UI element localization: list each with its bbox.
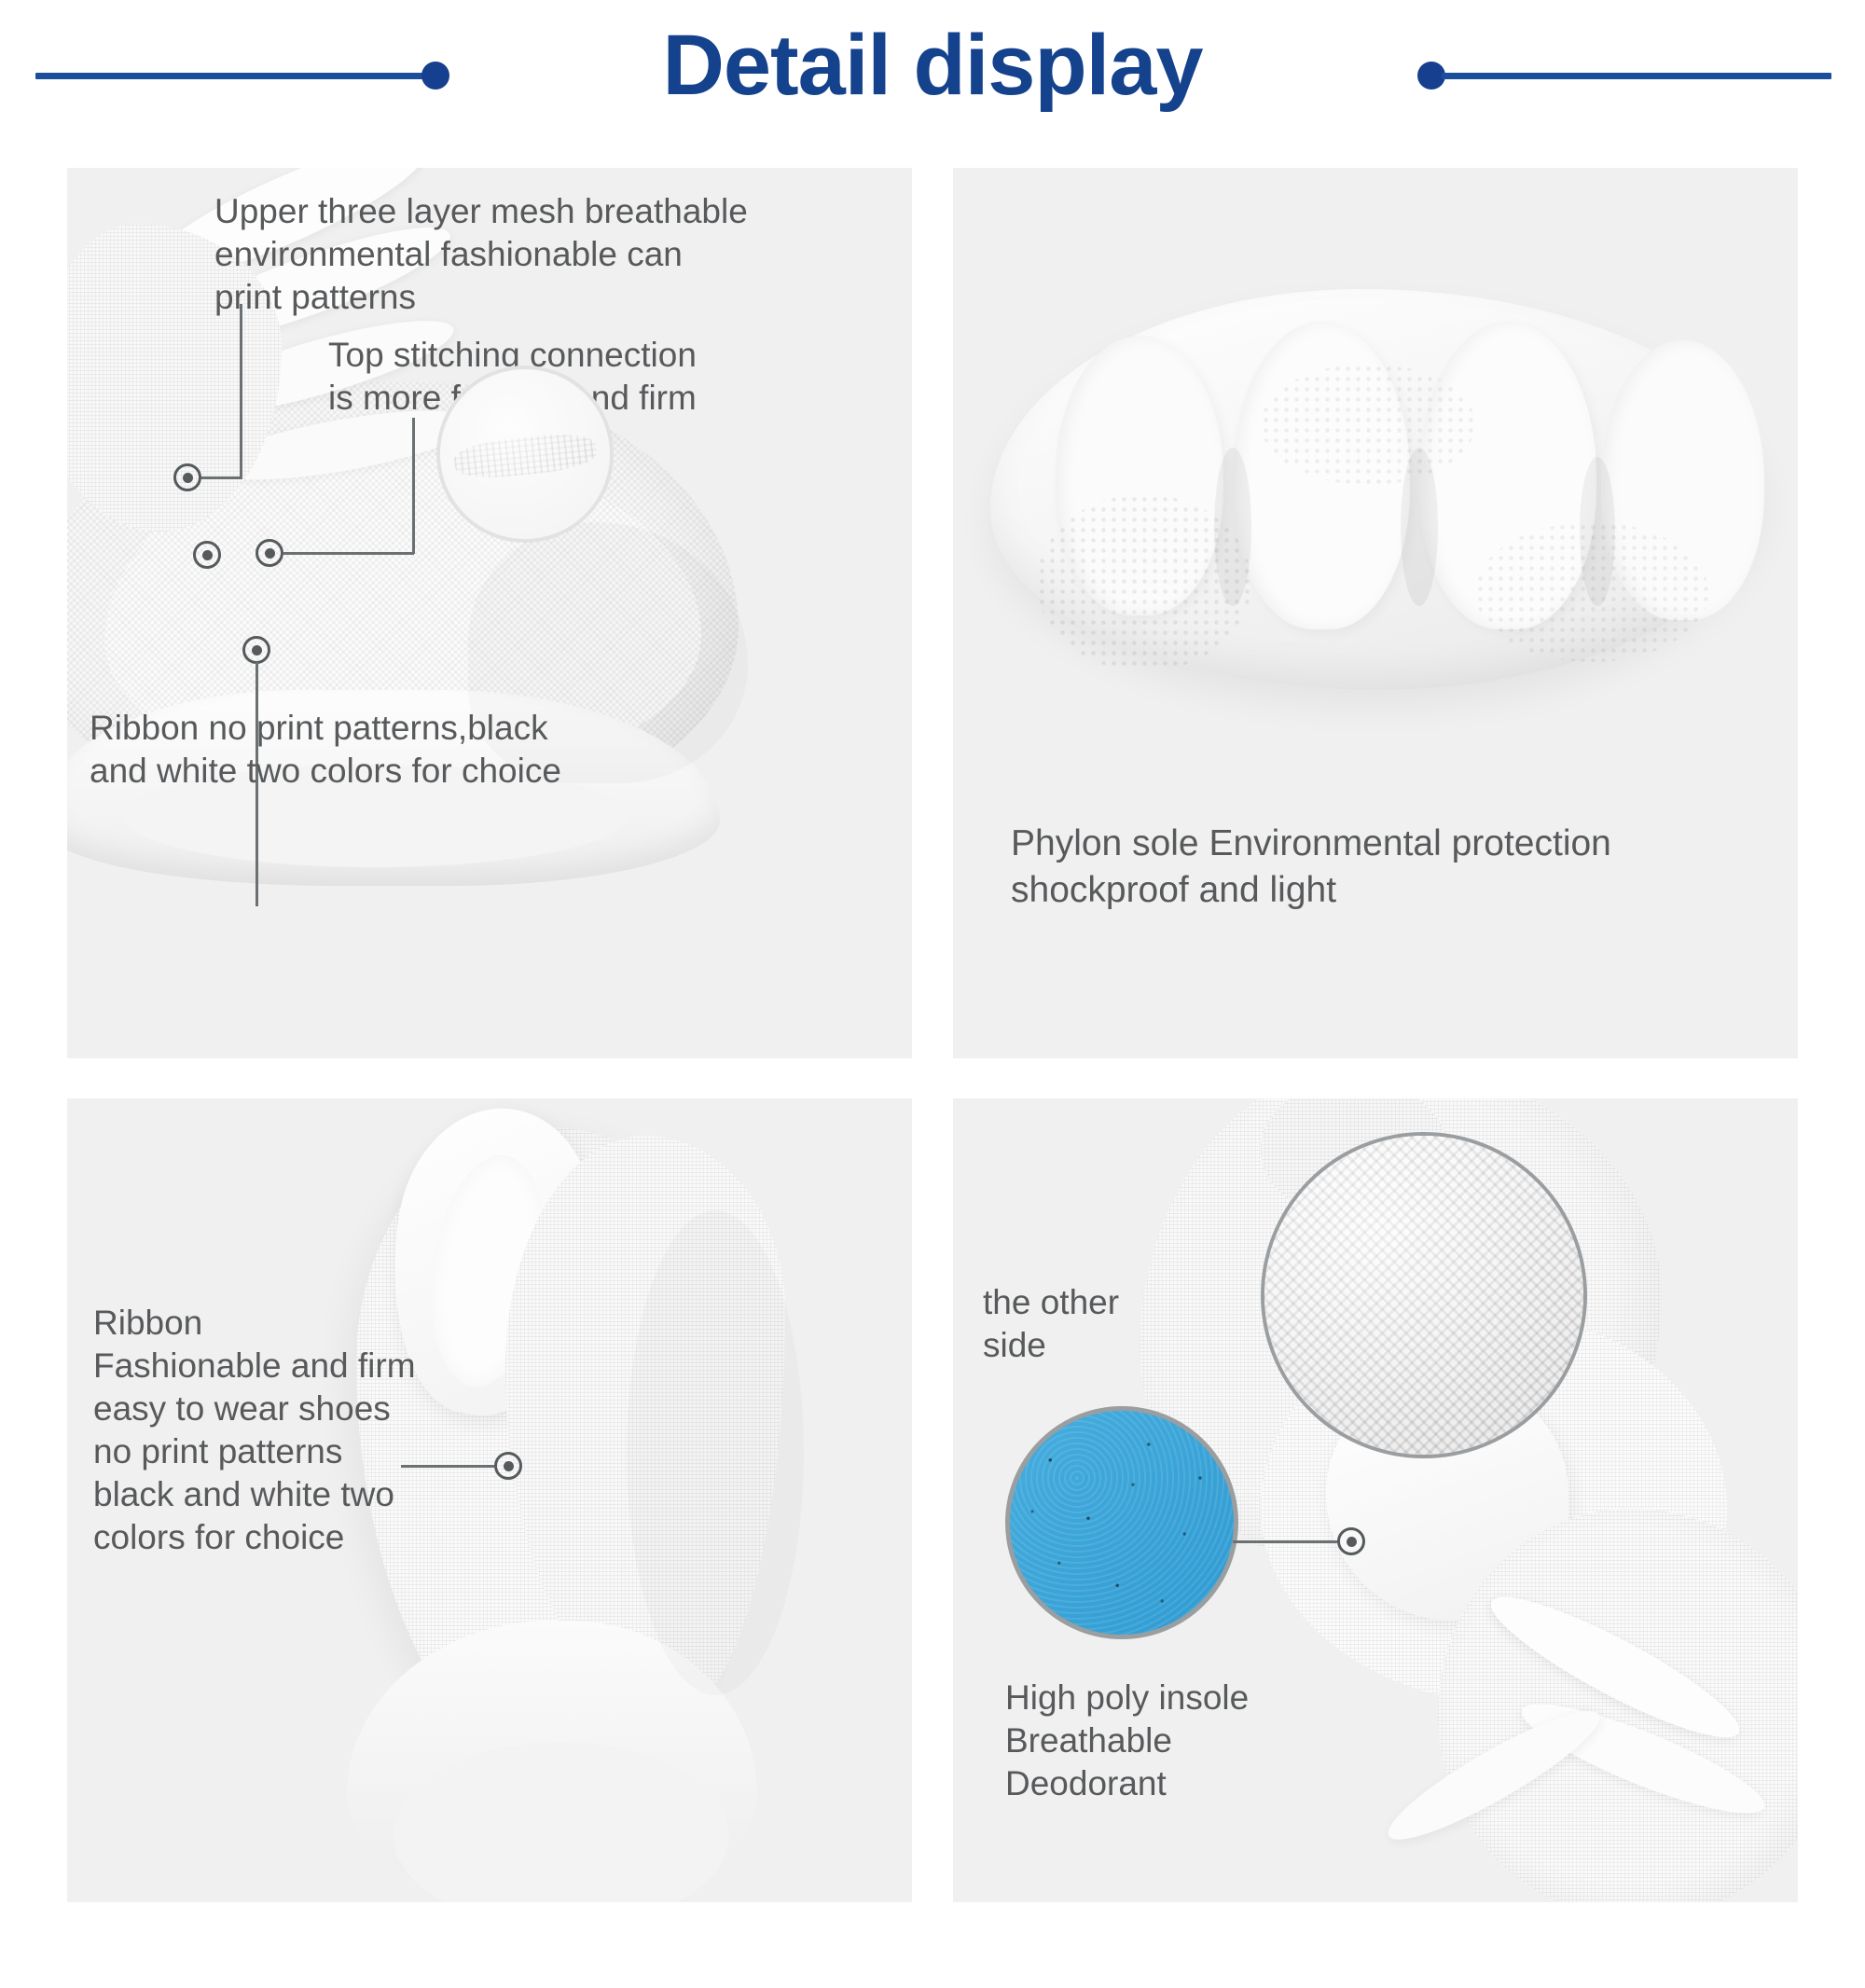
- leader-line-1b: [240, 304, 242, 479]
- page-title: Detail display: [0, 9, 1865, 121]
- panel-outsole: Phylon sole Environmental protection sho…: [953, 168, 1798, 1058]
- leader-line-insole: [1233, 1540, 1337, 1543]
- panel-insole: the other side High poly insole Breathab…: [953, 1098, 1798, 1902]
- detail-display-page: Detail display: [0, 0, 1865, 1988]
- caption-phylon-sole: Phylon sole Environmental protection sho…: [1011, 821, 1748, 914]
- annotation-other-side: the other side: [983, 1281, 1207, 1367]
- annotation-high-poly-insole: High poly insole Breathable Deodorant: [1005, 1677, 1378, 1805]
- annotation-upper-mesh: Upper three layer mesh breathable enviro…: [214, 190, 811, 319]
- leader-line-1a: [201, 476, 242, 479]
- detail-panel-grid: Upper three layer mesh breathable enviro…: [67, 168, 1798, 1902]
- callout-marker-ribbon[interactable]: [494, 1452, 522, 1480]
- blue-insole-detail-circle: [1005, 1406, 1238, 1639]
- annotation-ribbon-features: Ribbon Fashionable and firm easy to wear…: [93, 1302, 494, 1559]
- mesh-detail-circle: [1261, 1132, 1587, 1458]
- panel-shoe-upper: Upper three layer mesh breathable enviro…: [67, 168, 912, 1058]
- annotation-ribbon-colors: Ribbon no print patterns,black and white…: [90, 707, 649, 793]
- callout-marker-3[interactable]: [242, 636, 270, 664]
- outsole-photo: [953, 168, 1798, 1058]
- stitching-detail-circle: [436, 366, 614, 543]
- leader-line-2a: [283, 552, 414, 555]
- callout-marker-1[interactable]: [173, 463, 201, 491]
- callout-marker-2[interactable]: [193, 541, 221, 569]
- callout-marker-4[interactable]: [256, 539, 283, 567]
- page-header: Detail display: [0, 0, 1865, 168]
- header-rule-right: [1442, 73, 1831, 79]
- leader-line-ribbon: [401, 1465, 494, 1468]
- callout-marker-insole[interactable]: [1337, 1527, 1365, 1555]
- leader-line-2b: [412, 418, 415, 554]
- panel-heel-ribbon: Ribbon Fashionable and firm easy to wear…: [67, 1098, 912, 1902]
